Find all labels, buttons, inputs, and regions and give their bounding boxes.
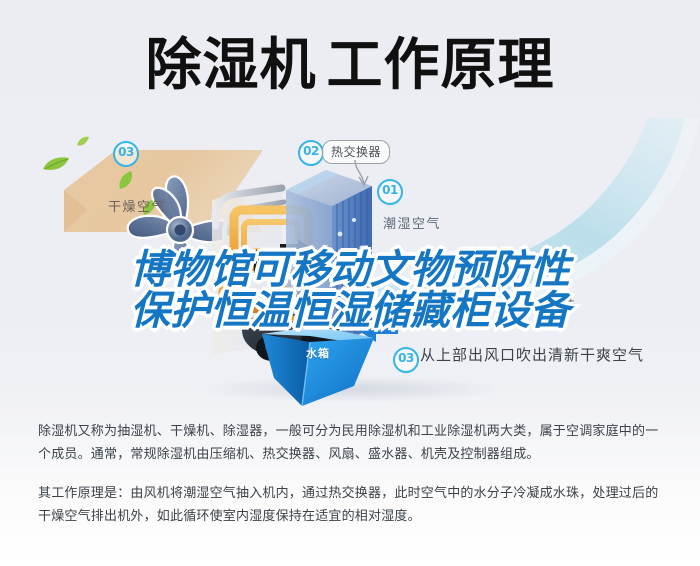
badge-outlet: 03 [393, 347, 419, 373]
water-tank-icon [258, 326, 378, 417]
page-title: 除湿机工作原理 [0, 33, 700, 97]
body-paragraph-1-text: 除湿机又称为抽湿机、干燥机、除湿器，一般可分为民用除湿机和工业除湿机两大类，属于… [38, 419, 664, 465]
outlet-note: 从上部出风口吹出清新干爽空气 [420, 344, 644, 365]
humid-air-stream-icon [355, 118, 700, 353]
dehumidifier-infographic: 除湿机工作原理 [0, 0, 700, 566]
leaf-icon [76, 134, 90, 152]
humid-air-label: 潮湿空气 [383, 213, 441, 232]
water-tank-label: 水箱 [306, 345, 330, 361]
badge-humid-air: 01 [377, 179, 403, 205]
leaf-icon [42, 156, 70, 177]
page-title-part1: 除湿机 [146, 33, 317, 96]
condensation-note: 成水珠 [534, 294, 576, 313]
page-title-part2: 工作原理 [327, 33, 555, 96]
badge-dry-air: 03 [113, 141, 139, 167]
body-paragraph-1: 除湿机又称为抽湿机、干燥机、除湿器，一般可分为民用除湿机和工业除湿机两大类，属于… [38, 419, 664, 465]
title-band: 除湿机工作原理 [0, 0, 700, 122]
diagram-stage: 水箱 03 02 01 03 热交换器 干燥空气 潮湿空气 成水珠 从上部出风口… [0, 118, 700, 410]
callout-pointer-icon [353, 160, 375, 191]
badge-heat-exchanger: 02 [298, 140, 324, 166]
dry-air-label: 干燥空气 [108, 196, 166, 215]
body-paragraph-2: 其工作原理是：由风机将潮湿空气抽入机内，通过热交换器，此时空气中的水分子冷凝成水… [38, 481, 664, 527]
body-paragraph-2-text: 其工作原理是：由风机将潮湿空气抽入机内，通过热交换器，此时空气中的水分子冷凝成水… [38, 481, 664, 527]
